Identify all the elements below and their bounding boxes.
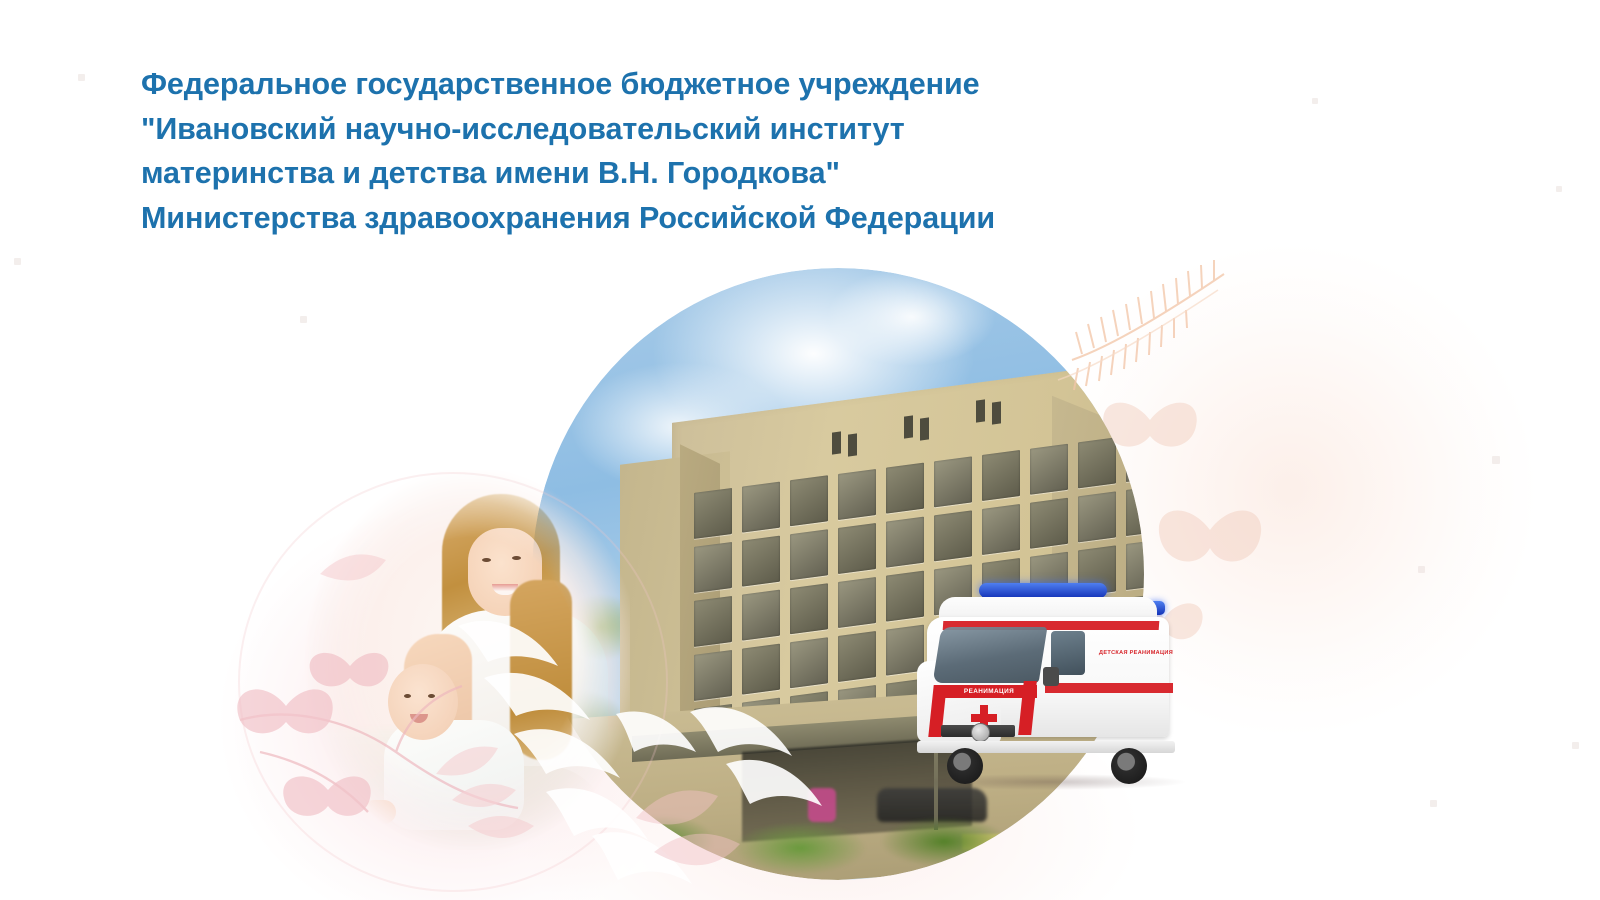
mother-and-baby-photo — [300, 470, 630, 850]
side-label-banner: ДЕТСКАЯ РЕАНИМАЦИЯ — [1099, 647, 1174, 658]
title-line-4: Министерства здравоохранения Российской … — [141, 196, 1191, 241]
roof-window — [992, 401, 1001, 424]
baby-body — [384, 720, 524, 830]
front-wheel — [947, 748, 983, 784]
garden-hedge — [572, 808, 1144, 880]
baby-foot — [362, 800, 396, 824]
side-label-text: ДЕТСКАЯ РЕАНИМАЦИЯ — [1099, 650, 1173, 656]
ambulance-vehicle: РЕАНИМАЦИЯ ДЕТСКАЯ РЕАНИМАЦИЯ — [895, 565, 1205, 790]
baby-eye-left — [404, 694, 411, 698]
roof-window — [976, 399, 985, 422]
baby-eye-right — [428, 694, 435, 698]
roof-window — [848, 433, 857, 456]
slide-title: Федеральное государственное бюджетное уч… — [141, 62, 1191, 240]
title-line-2: "Ивановский научно-исследовательский инс… — [141, 107, 1191, 152]
side-mirror — [1043, 667, 1059, 686]
mother-eye-left — [482, 558, 491, 562]
emergency-lightbar-icon — [979, 583, 1107, 598]
red-stripe-side — [1045, 683, 1173, 693]
roof-window — [832, 431, 841, 454]
title-line-1: Федеральное государственное бюджетное уч… — [141, 62, 1191, 107]
baby-head — [388, 664, 458, 740]
vehicle-badge-icon — [971, 723, 990, 742]
roof-window — [920, 417, 929, 440]
title-line-3: материнства и детства имени В.Н. Городко… — [141, 151, 1191, 196]
hood-label-text: РЕАНИМАЦИЯ — [964, 688, 1014, 695]
presentation-slide: РЕАНИМАЦИЯ ДЕТСКАЯ РЕАНИМАЦИЯ Федерально… — [0, 0, 1600, 900]
hood-label-banner: РЕАНИМАЦИЯ — [941, 685, 1037, 698]
windshield — [933, 627, 1048, 683]
mother-hair-strand — [510, 580, 572, 760]
rear-wheel — [1111, 748, 1147, 784]
mother-eye-right — [512, 556, 521, 560]
roof-window — [904, 415, 913, 438]
